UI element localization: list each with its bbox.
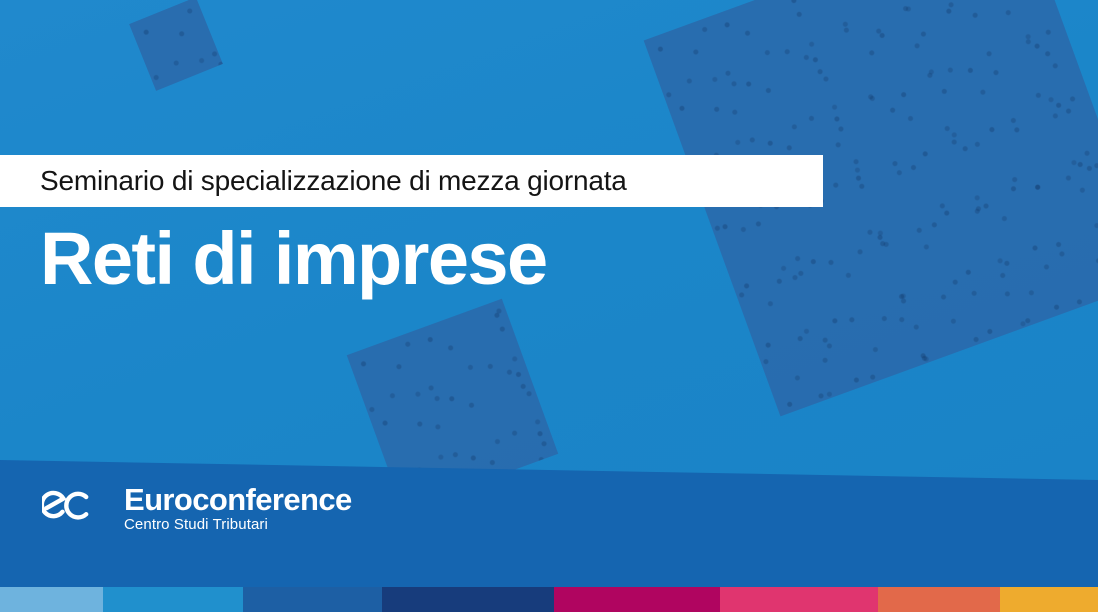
ec-monogram-icon bbox=[42, 487, 110, 530]
decorative-square-small bbox=[129, 0, 223, 91]
brand-logo: Euroconference Centro Studi Tributari bbox=[42, 484, 352, 533]
stripe-pink bbox=[720, 587, 878, 612]
kicker-banner: Seminario di specializzazione di mezza g… bbox=[0, 155, 823, 207]
decorative-square-large bbox=[644, 0, 1098, 416]
stripe-gold bbox=[1000, 587, 1098, 612]
stripe-blue bbox=[103, 587, 243, 612]
stripe-navy bbox=[382, 587, 554, 612]
kicker-text: Seminario di specializzazione di mezza g… bbox=[40, 167, 627, 195]
stripe-medium-blue bbox=[243, 587, 382, 612]
stripe-orange bbox=[878, 587, 1000, 612]
brand-tagline: Centro Studi Tributari bbox=[124, 517, 352, 534]
stripe-light-blue bbox=[0, 587, 103, 612]
color-stripe-bar bbox=[0, 587, 1098, 612]
event-poster: Seminario di specializzazione di mezza g… bbox=[0, 0, 1098, 612]
stripe-magenta bbox=[554, 587, 720, 612]
page-title: Reti di imprese bbox=[40, 222, 547, 296]
brand-name: Euroconference bbox=[124, 484, 352, 516]
brand-wordmark: Euroconference Centro Studi Tributari bbox=[124, 484, 352, 533]
